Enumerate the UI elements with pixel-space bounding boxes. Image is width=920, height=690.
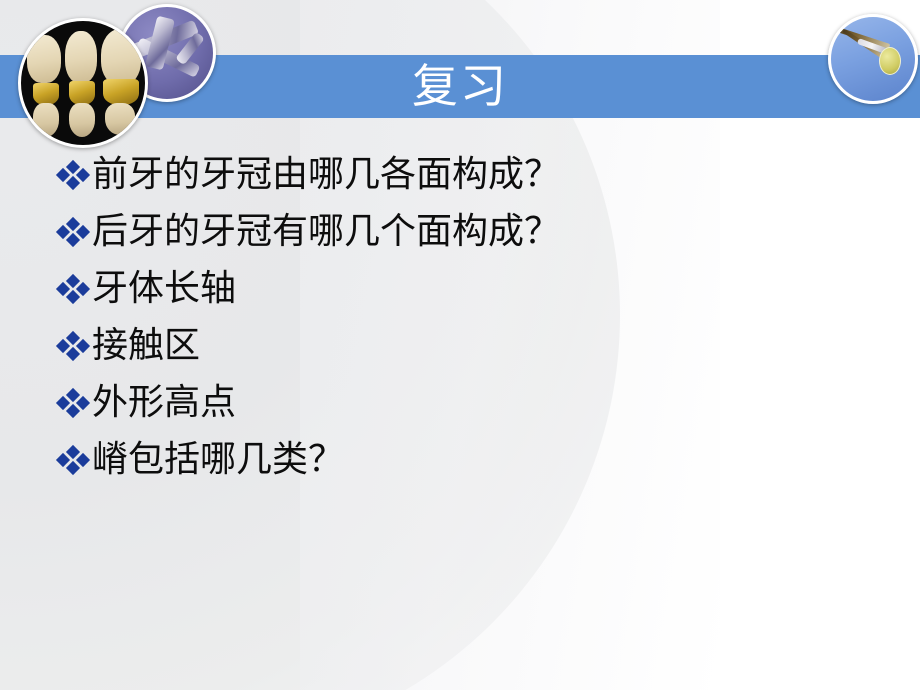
diamond-cluster-bullet-icon	[58, 276, 88, 302]
tooth-root-shape	[69, 103, 95, 137]
list-item: 外形高点	[58, 374, 878, 431]
list-item: 前牙的牙冠由哪几各面构成？	[58, 146, 878, 203]
mirror-disc-shape	[879, 47, 901, 75]
tooth-root-shape	[33, 103, 59, 137]
list-item-label: 外形高点	[92, 383, 236, 423]
list-item: 后牙的牙冠有哪几个面构成？	[58, 203, 878, 260]
presentation-slide: 复习 前牙的牙冠由哪几各面构成？	[0, 0, 920, 690]
teeth-gold-crowns-photo	[18, 18, 148, 148]
gold-crown-shape	[33, 83, 59, 105]
dental-mirror-probe-photo	[828, 14, 918, 104]
gold-crown-shape	[103, 79, 139, 105]
list-item: 嵴包括哪几类？	[58, 431, 878, 488]
tooth-shape	[27, 35, 61, 83]
list-item-label: 前牙的牙冠由哪几各面构成？	[92, 155, 560, 195]
diamond-cluster-bullet-icon	[58, 333, 88, 359]
gold-crown-shape	[69, 81, 95, 105]
diamond-cluster-bullet-icon	[58, 219, 88, 245]
list-item: 接触区	[58, 317, 878, 374]
list-item-label: 接触区	[92, 326, 200, 366]
list-item-label: 嵴包括哪几类？	[92, 440, 344, 480]
list-item-label: 牙体长轴	[92, 269, 236, 309]
tooth-shape	[65, 31, 97, 83]
bullet-list: 前牙的牙冠由哪几各面构成？ 后牙的牙冠有哪几个面构成？ 牙体长轴 接触区 外形高	[58, 146, 878, 488]
list-item: 牙体长轴	[58, 260, 878, 317]
diamond-cluster-bullet-icon	[58, 390, 88, 416]
diamond-cluster-bullet-icon	[58, 162, 88, 188]
tooth-root-shape	[105, 103, 135, 135]
tooth-shape	[101, 29, 141, 85]
list-item-label: 后牙的牙冠有哪几个面构成？	[92, 212, 560, 252]
diamond-cluster-bullet-icon	[58, 447, 88, 473]
